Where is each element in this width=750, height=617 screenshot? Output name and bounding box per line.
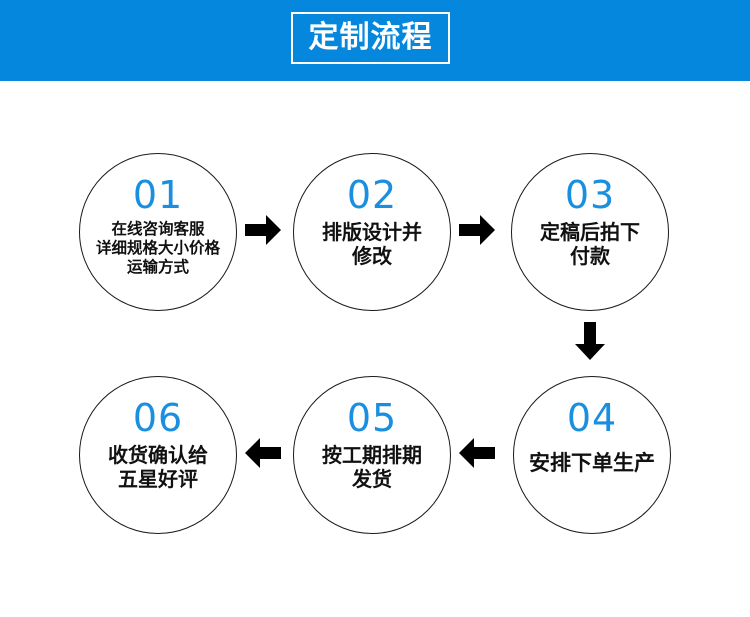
custom-process-diagram: 定制流程 01 在线咨询客服 详细规格大小价格 运输方式 02 排版设计并 修改… <box>0 0 750 617</box>
arrow-down-icon <box>573 322 607 360</box>
flow-step-05: 05 按工期排期 发货 <box>293 376 451 534</box>
step-number-02: 02 <box>347 176 397 214</box>
header-banner: 定制流程 <box>0 0 750 81</box>
step-text-01: 在线咨询客服 详细规格大小价格 运输方式 <box>96 220 220 277</box>
arrow-right-icon <box>245 213 281 247</box>
flow-step-04: 04 安排下单生产 <box>513 376 671 534</box>
step-number-05: 05 <box>347 399 397 437</box>
step-number-04: 04 <box>567 399 617 437</box>
header-title-box: 定制流程 <box>291 12 450 64</box>
flow-diagram: 01 在线咨询客服 详细规格大小价格 运输方式 02 排版设计并 修改 03 定… <box>0 81 750 617</box>
step-text-04: 安排下单生产 <box>508 451 676 477</box>
step-number-06: 06 <box>133 399 183 437</box>
step-text-05: 按工期排期 发货 <box>322 443 422 492</box>
flow-step-03: 03 定稿后拍下 付款 <box>511 153 669 311</box>
step-number-01: 01 <box>133 176 183 214</box>
flow-step-02: 02 排版设计并 修改 <box>293 153 451 311</box>
arrow-left-icon <box>459 436 495 470</box>
flow-step-01: 01 在线咨询客服 详细规格大小价格 运输方式 <box>79 153 237 311</box>
flow-step-06: 06 收货确认给 五星好评 <box>79 376 237 534</box>
arrow-left-icon <box>245 436 281 470</box>
page-title: 定制流程 <box>309 23 433 53</box>
step-text-06: 收货确认给 五星好评 <box>108 443 208 492</box>
step-number-03: 03 <box>565 176 615 214</box>
step-text-03: 定稿后拍下 付款 <box>540 220 640 269</box>
step-text-02: 排版设计并 修改 <box>322 220 422 269</box>
arrow-right-icon <box>459 213 495 247</box>
